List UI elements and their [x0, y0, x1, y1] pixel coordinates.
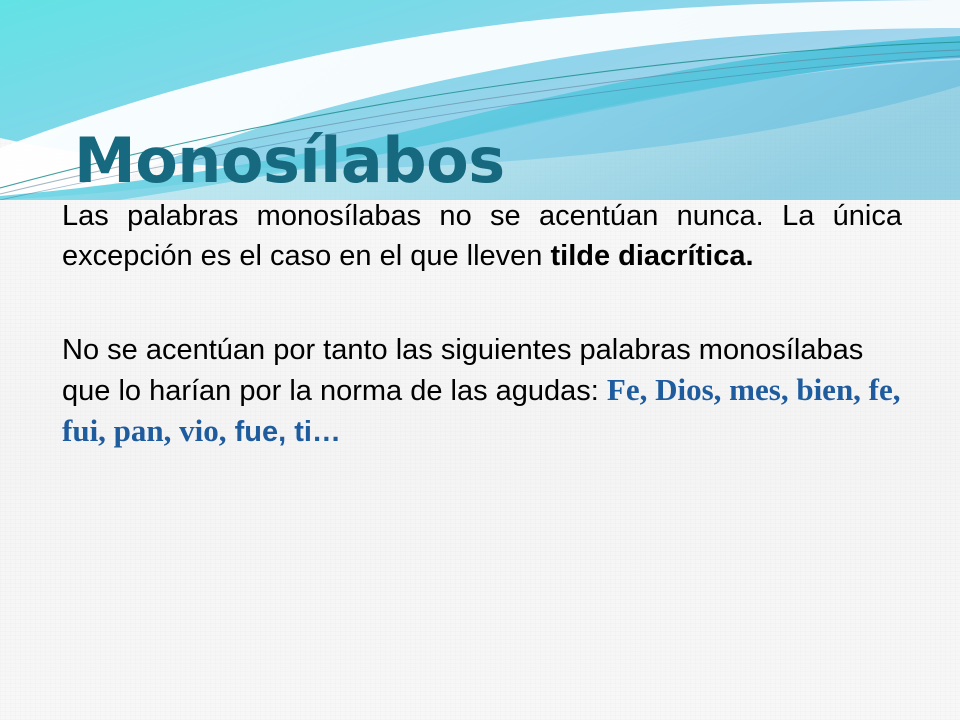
paragraph-rule-emphasis: tilde diacrítica.: [550, 240, 753, 272]
slide-body: Las palabras monosílabas no se acentúan …: [62, 196, 902, 452]
paragraph-rule-lead: Las palabras monosílabas no se acentúan …: [62, 200, 902, 272]
paragraph-rule: Las palabras monosílabas no se acentúan …: [62, 196, 902, 276]
page-title: Monosílabos: [74, 128, 505, 193]
paragraph-spacer: [62, 276, 902, 330]
slide: Monosílabos Las palabras monosílabas no …: [0, 0, 960, 720]
word-list-sans: fue, ti…: [235, 416, 341, 448]
paragraph-examples: No se acentúan por tanto las siguientes …: [62, 330, 902, 452]
